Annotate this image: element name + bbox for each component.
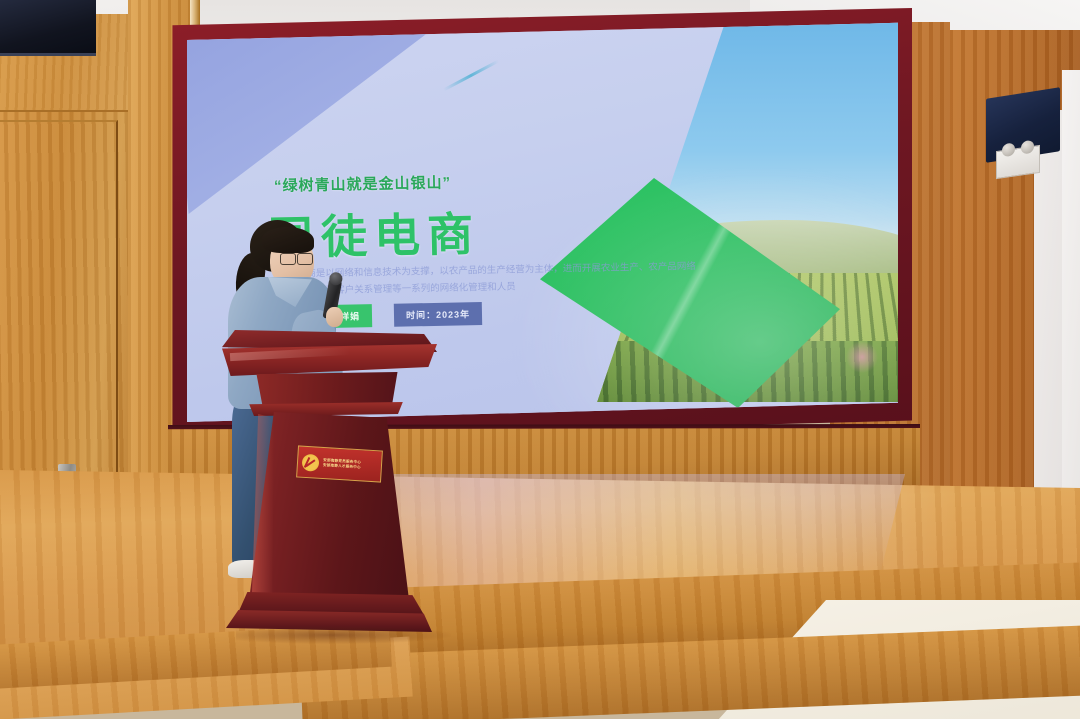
wall-plate-knob <box>1002 142 1015 157</box>
presenter-hand <box>326 307 343 327</box>
slide-subtitle: “绿树青山就是金山银山” <box>274 169 574 196</box>
podium-shadow <box>236 626 451 644</box>
podium: 安部南静党员服务中心 安部南静人才服务中心 <box>222 330 437 640</box>
podium-plaque-line2: 安部南静人才服务中心 <box>323 463 361 471</box>
podium-plaque-text: 安部南静党员服务中心 安部南静人才服务中心 <box>323 458 362 471</box>
podium-column-highlight <box>252 414 274 602</box>
presenter-fringe <box>262 227 314 253</box>
conference-hall-scene: “绿树青山就是金山银山” 司徒电商 农业电商是以网络和信息技术为支撑，以农产品的… <box>0 0 1080 719</box>
podium-collar <box>246 402 406 416</box>
hammer-sickle-emblem-icon <box>302 453 320 471</box>
podium-plaque: 安部南静党员服务中心 安部南静人才服务中心 <box>296 445 383 482</box>
presenter-glasses-icon <box>280 253 314 264</box>
wall-plate-knob <box>1021 140 1034 155</box>
slide-date-badge: 时间：2023年 <box>394 302 482 327</box>
ceiling-speaker-left-icon <box>0 0 96 56</box>
